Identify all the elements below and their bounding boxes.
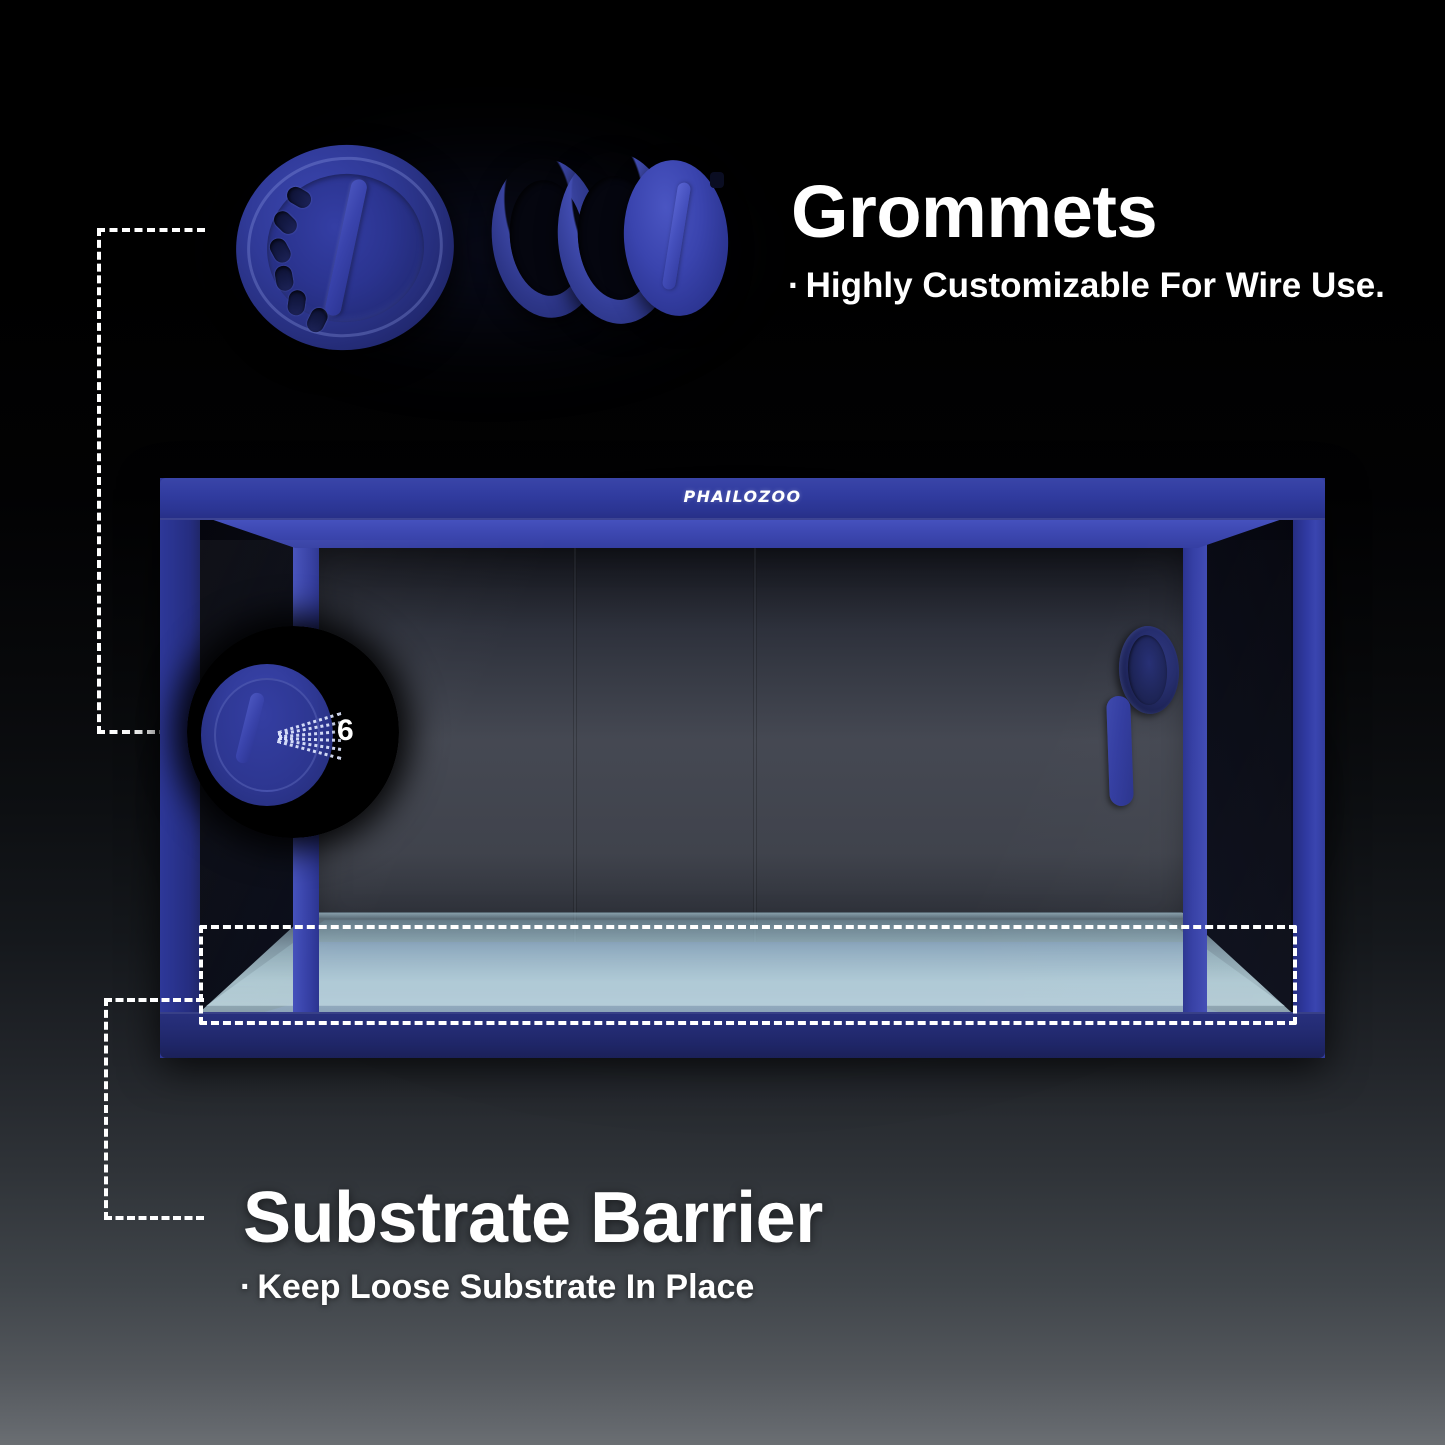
grommet-slot [267, 236, 294, 266]
grommet-rings-image [492, 148, 728, 338]
bullet-glyph: · [240, 1270, 251, 1304]
back-glass-panel [306, 540, 1197, 942]
substrate-subtitle-text: Keep Loose Substrate In Place [257, 1268, 754, 1306]
substrate-barrier-floor-inner [206, 920, 1285, 1006]
grommet-cap-image [236, 145, 454, 350]
grommets-subtitle: ·Highly Customizable For Wire Use. [788, 268, 1385, 303]
substrate-subtitle: ·Keep Loose Substrate In Place [240, 1270, 754, 1304]
bottom-rail [160, 1012, 1325, 1058]
grommet-slot [271, 208, 301, 238]
bullet-glyph: · [788, 268, 800, 303]
grommet-ring-front-notch [710, 172, 724, 188]
side-panel-handle [1106, 696, 1134, 807]
grommet-count-label: 6 [337, 714, 354, 748]
grommet-slot [287, 289, 307, 316]
inner-right-rail [1183, 504, 1207, 1038]
product-feature-graphic: Grommets ·Highly Customizable For Wire U… [0, 0, 1445, 1445]
brand-logo: PHAILOZOO [160, 487, 1325, 506]
right-post [1293, 478, 1325, 1058]
grommet-slot [274, 264, 295, 292]
grommets-title: Grommets [791, 175, 1157, 249]
grommet-slot [284, 184, 314, 211]
sliding-door-seam [753, 540, 757, 942]
grommets-subtitle-text: Highly Customizable For Wire Use. [806, 266, 1385, 305]
sliding-door-seam [573, 540, 577, 942]
grommet-detail-magnifier: 6 [187, 626, 399, 838]
substrate-title: Substrate Barrier [243, 1182, 823, 1254]
top-rail: PHAILOZOO [160, 478, 1325, 520]
